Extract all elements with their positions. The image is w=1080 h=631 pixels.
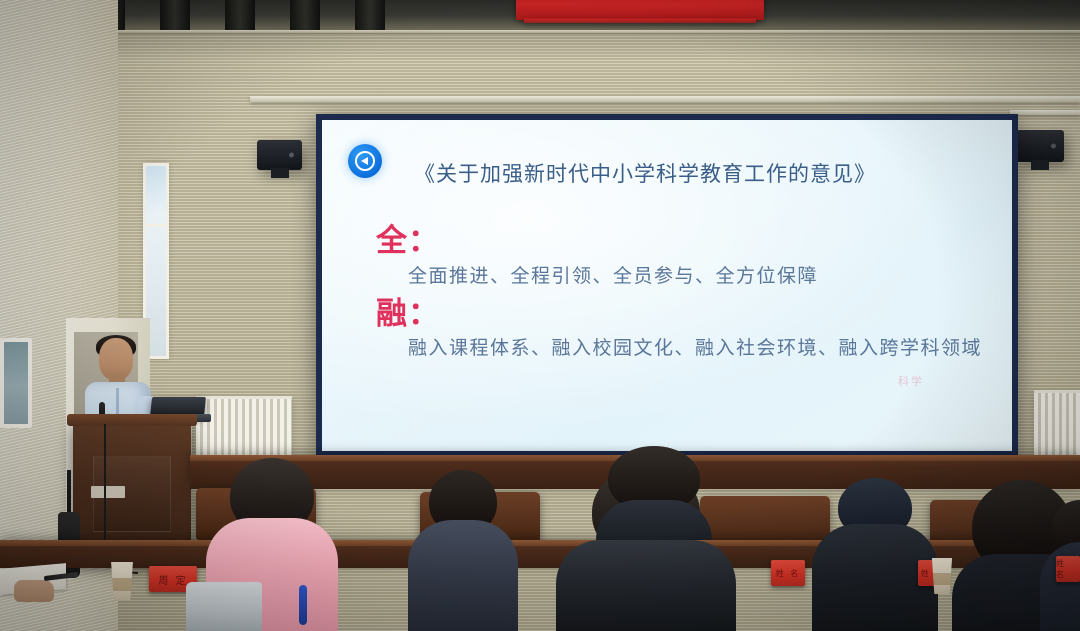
- slide-detail-1: 全面推进、全程引领、全员参与、全方位保障: [408, 261, 1012, 288]
- name-placard: 姓 名: [1056, 556, 1080, 582]
- presentation-scene: 《关于加强新时代中小学科学教育工作的意见》 全： 全面推进、全程引领、全员参与、…: [0, 0, 1080, 631]
- slide-watermark: 科学: [898, 373, 924, 389]
- attendee-jacket: [556, 540, 736, 631]
- name-placard: 姓 名: [771, 560, 805, 586]
- pen: [299, 585, 307, 625]
- screen-surface: 《关于加强新时代中小学科学教育工作的意见》 全： 全面推进、全程引领、全员参与、…: [322, 120, 1012, 451]
- placard-text: 姓 名: [776, 568, 801, 579]
- attendee-jacket: [408, 520, 518, 631]
- ceiling-trim-line: [0, 30, 1080, 33]
- ceiling-beam: [225, 0, 255, 30]
- ceiling-beam: [355, 0, 385, 30]
- draped-coat: [186, 582, 262, 631]
- speaker-driver-dot: [1051, 144, 1056, 149]
- red-banner: [516, 0, 764, 20]
- left-small-window: [0, 338, 32, 428]
- wall-trim-right: [1010, 110, 1080, 115]
- slide-body: 全： 全面推进、全程引领、全员参与、全方位保障 融： 融入课程体系、融入校园文化…: [376, 225, 1012, 370]
- red-banner-fold: [524, 18, 756, 23]
- attendee-suit-left: [408, 470, 518, 631]
- window-mullion: [146, 224, 166, 227]
- placard-text: 姓 名: [1056, 558, 1080, 580]
- keyword-colon: ：: [408, 296, 440, 332]
- attendee-dark-jacket-mid: [596, 446, 712, 536]
- wall-radiator: [1034, 390, 1080, 462]
- slide-keyword-1: 全：: [376, 225, 1012, 258]
- wall-radiator: [196, 396, 292, 458]
- projection-screen[interactable]: 《关于加强新时代中小学科学教育工作的意见》 全： 全面推进、全程引领、全员参与、…: [316, 114, 1018, 457]
- speaker-bracket: [271, 168, 289, 178]
- slide-title: 《关于加强新时代中小学科学教育工作的意见》: [414, 158, 876, 188]
- slide-keyword-2: 融：: [376, 298, 1012, 331]
- play-back-circle-icon: [348, 144, 382, 178]
- right-wall-speaker: [1016, 130, 1064, 162]
- icon-ring: [355, 151, 375, 171]
- keyword-char: 融: [376, 296, 408, 332]
- ceiling-beam: [290, 0, 320, 30]
- placard-text: 周 定: [158, 572, 187, 587]
- attendee-cap: [812, 478, 938, 631]
- keyword-char: 全: [376, 223, 408, 259]
- speaker-driver-dot: [289, 153, 294, 158]
- wall-trim-upper: [250, 96, 1080, 102]
- attendee-jacket: [596, 500, 712, 540]
- ceiling-beam: [160, 0, 190, 30]
- icon-triangle: [361, 157, 368, 165]
- left-wall-speaker: [257, 140, 302, 170]
- writing-hand: [14, 580, 54, 602]
- speaker-bracket: [1031, 160, 1049, 170]
- keyword-colon: ：: [408, 223, 440, 259]
- slide-detail-2: 融入课程体系、融入校园文化、融入社会环境、融入跨学科领域: [408, 333, 1012, 360]
